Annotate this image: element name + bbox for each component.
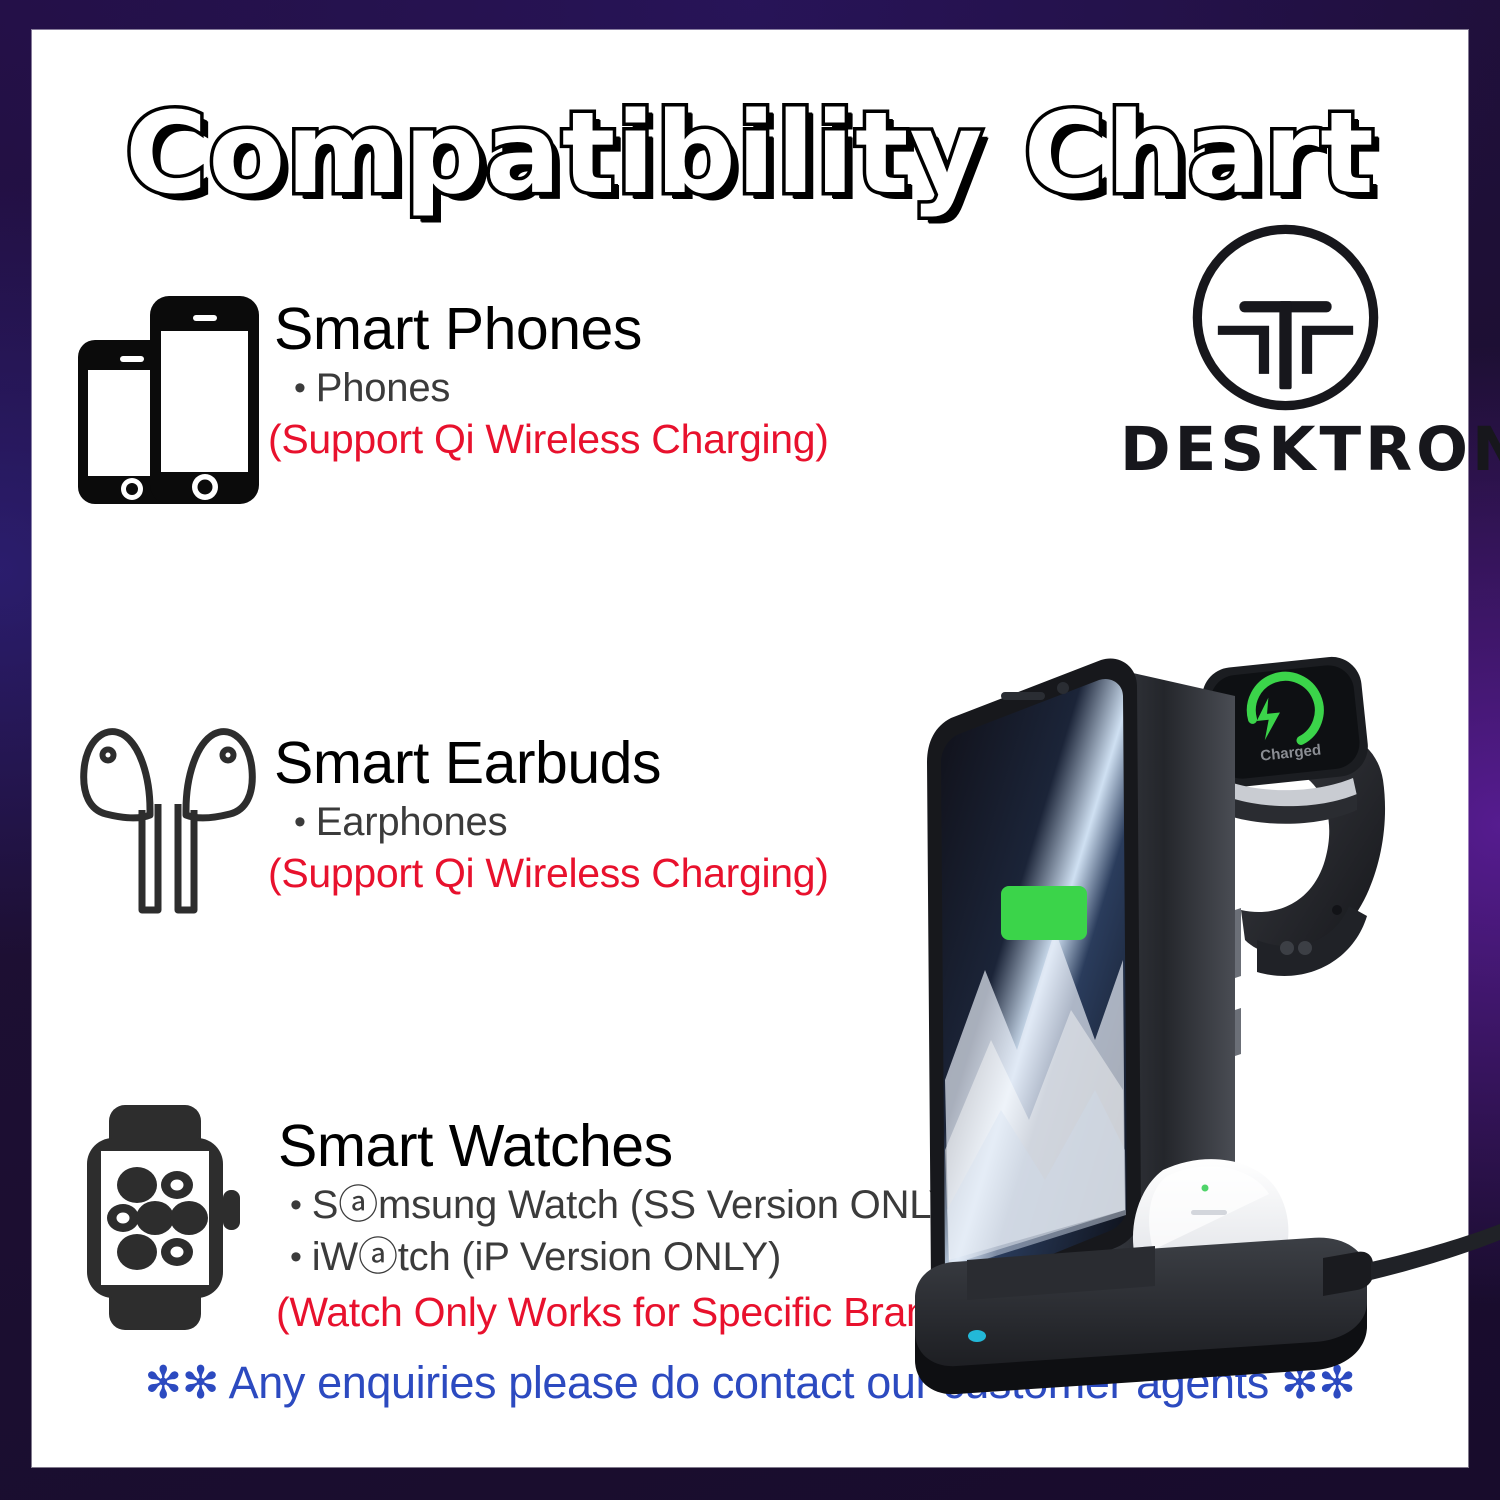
bullet-dot: • xyxy=(294,803,316,841)
bullet-dot: • xyxy=(290,1238,312,1276)
section-body: Smart Watches •Sⓐmsung Watch (SS Version… xyxy=(268,1105,968,1338)
section-smart-earbuds: Smart Earbuds •Earphones (Support Qi Wir… xyxy=(68,722,829,917)
section-bullet: •Earphones xyxy=(268,796,829,848)
page-title-wrap: Compatibility Chart xyxy=(32,98,1468,210)
charging-indicator-badge xyxy=(1001,886,1087,940)
usb-c-cable xyxy=(1323,1222,1500,1296)
section-heading: Smart Watches xyxy=(278,1115,968,1179)
section-smart-phones: Smart Phones •Phones (Support Qi Wireles… xyxy=(68,288,829,506)
bullet-dot: • xyxy=(294,369,316,407)
section-bullet: •Phones xyxy=(268,362,829,414)
section-bullet: •Sⓐmsung Watch (SS Version ONLY) xyxy=(268,1179,968,1231)
bullet-dot: • xyxy=(290,1186,312,1224)
brand-name: DESKTRON xyxy=(1120,414,1450,485)
section-smart-watches: Smart Watches •Sⓐmsung Watch (SS Version… xyxy=(68,1105,968,1338)
brand-logo: DESKTRON xyxy=(1120,215,1450,485)
bullet-label: Phones xyxy=(316,366,450,410)
two-smartphones-icon xyxy=(68,288,268,506)
section-body: Smart Earbuds •Earphones (Support Qi Wir… xyxy=(268,722,829,899)
desktron-circle-t-logo-icon xyxy=(1183,215,1388,420)
smartwatch-icon xyxy=(68,1105,268,1330)
outer-frame: Compatibility Chart DESKTRON xyxy=(0,0,1500,1500)
section-note: (Support Qi Wireless Charging) xyxy=(268,414,829,465)
bullet-label: Earphones xyxy=(316,800,508,844)
bullet-label: Sⓐmsung Watch (SS Version ONLY) xyxy=(312,1183,968,1227)
section-heading: Smart Earbuds xyxy=(274,732,829,796)
led-indicator xyxy=(968,1330,986,1342)
product-image-3-in-1-charging-stand: Charged xyxy=(905,610,1500,1440)
section-note: (Support Qi Wireless Charging) xyxy=(268,848,829,899)
wireless-earbuds-icon xyxy=(68,722,268,917)
section-heading: Smart Phones xyxy=(274,298,829,362)
page-title: Compatibility Chart xyxy=(125,98,1375,210)
charging-base xyxy=(915,1238,1367,1395)
bullet-label: iWⓐtch (iP Version ONLY) xyxy=(312,1235,781,1279)
section-body: Smart Phones •Phones (Support Qi Wireles… xyxy=(268,288,829,465)
section-bullet: •iWⓐtch (iP Version ONLY) xyxy=(268,1231,968,1283)
section-note: (Watch Only Works for Specific Brand) xyxy=(276,1287,968,1338)
